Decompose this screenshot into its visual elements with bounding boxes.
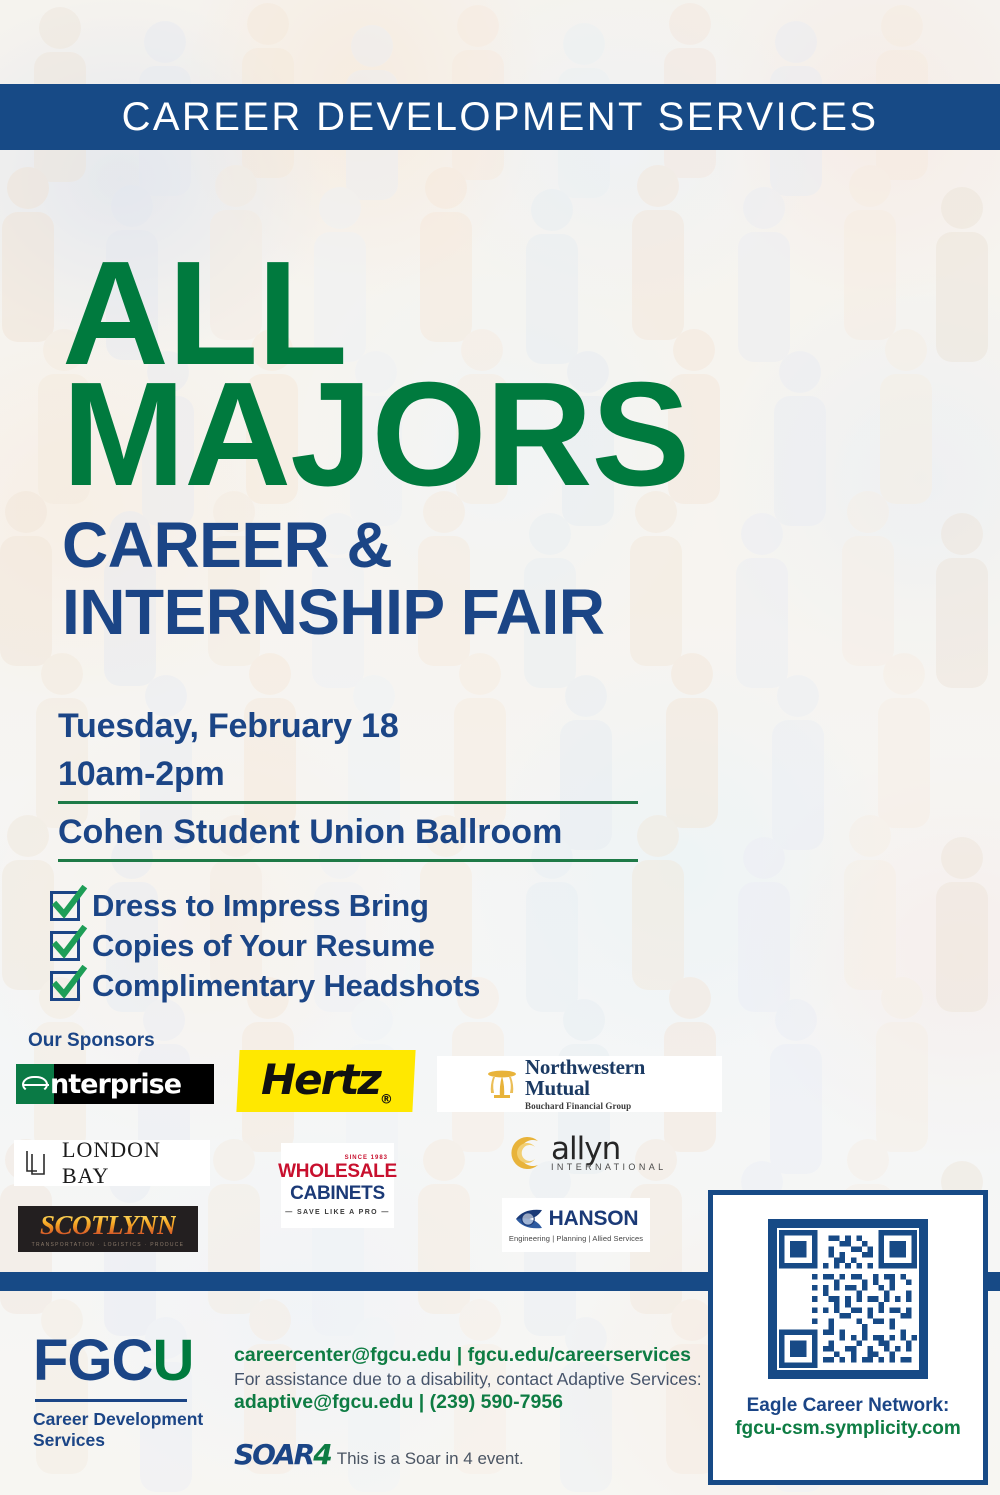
sponsor-logo-hertz: Hertz® xyxy=(236,1050,415,1112)
fgcu-subtitle-line-2: Services xyxy=(33,1430,203,1452)
sponsor-wordmark: allyn xyxy=(551,1134,667,1165)
sponsor-wordmark-line-2: Mutual xyxy=(525,1078,645,1099)
sponsor-tagline: — SAVE LIKE A PRO — xyxy=(285,1209,390,1216)
sponsor-tagline: TRANSPORTATION · LOGISTICS · PRODUCE xyxy=(32,1242,185,1248)
qr-code-icon[interactable] xyxy=(768,1219,928,1379)
checklist-item: Dress to Impress Bring xyxy=(50,888,480,924)
fgcu-logo: FGCU Career Development Services xyxy=(33,1332,203,1452)
sponsor-logo-hanson: HANSON Engineering | Planning | Allied S… xyxy=(502,1198,650,1252)
header-banner: CAREER DEVELOPMENT SERVICES xyxy=(0,84,1000,150)
headline-line-2: MAJORS xyxy=(62,371,689,498)
soar4-logo: SOAR4 xyxy=(234,1438,331,1471)
checklist-item-label: Dress to Impress Bring xyxy=(92,888,429,924)
checkbox-checked-icon xyxy=(50,931,80,961)
page-title: CAREER DEVELOPMENT SERVICES xyxy=(122,95,879,140)
allyn-swirl-icon xyxy=(505,1133,545,1173)
fgcu-wordmark-blue: FGC xyxy=(33,1328,152,1393)
headline-block: ALL MAJORS xyxy=(62,250,689,499)
checklist: Dress to Impress Bring Copies of Your Re… xyxy=(50,888,480,1008)
london-bay-mark-icon xyxy=(24,1149,52,1177)
checklist-item-label: Complimentary Headshots xyxy=(92,968,480,1004)
sponsor-logo-wholesale-cabinets: SINCE 1983 WHOLESALE CABINETS — SAVE LIK… xyxy=(281,1143,394,1228)
sponsor-wordmark: SCOTLYNN xyxy=(40,1210,176,1241)
soar-wordmark: SOAR xyxy=(234,1438,313,1471)
soar-in-4-block: SOAR4 This is a Soar in 4 event. xyxy=(234,1438,524,1471)
event-time: 10am-2pm xyxy=(58,750,658,798)
sponsor-wordmark: Hertz xyxy=(261,1055,380,1104)
soar-accent: 4 xyxy=(313,1438,330,1471)
qr-panel[interactable]: Eagle Career Network: fgcu-csm.symplicit… xyxy=(708,1190,988,1485)
soar-note: This is a Soar in 4 event. xyxy=(337,1449,524,1469)
event-venue: Cohen Student Union Ballroom xyxy=(58,808,658,856)
sponsor-tagline: INTERNATIONAL xyxy=(551,1163,667,1172)
sponsor-logo-scotlynn: SCOTLYNN TRANSPORTATION · LOGISTICS · PR… xyxy=(18,1206,198,1252)
subheadline-line-1: CAREER & xyxy=(62,512,605,579)
fgcu-logo-rule xyxy=(35,1399,187,1402)
sponsor-wordmark: LONDON BAY xyxy=(62,1137,210,1189)
divider-green-bottom xyxy=(58,859,638,862)
sponsor-logo-allyn-international: allyn INTERNATIONAL xyxy=(505,1124,653,1182)
sponsors-heading: Our Sponsors xyxy=(28,1030,155,1052)
qr-caption: Eagle Career Network: fgcu-csm.symplicit… xyxy=(735,1395,961,1441)
checklist-item: Copies of Your Resume xyxy=(50,928,480,964)
sponsor-wordmark-line-2: CABINETS xyxy=(290,1183,385,1205)
sponsor-wordmark-line-1: Northwestern xyxy=(525,1057,645,1078)
checkbox-checked-icon xyxy=(50,971,80,1001)
fgcu-wordmark-green: U xyxy=(152,1328,193,1393)
trademark-symbol: ® xyxy=(380,1092,391,1107)
sponsor-logo-london-bay: LONDON BAY xyxy=(14,1140,210,1186)
subheadline-block: CAREER & INTERNSHIP FAIR xyxy=(62,512,605,645)
divider-green-top xyxy=(58,801,638,804)
subheadline-line-2: INTERNSHIP FAIR xyxy=(62,579,605,646)
sponsor-logo-northwestern-mutual: Northwestern Mutual Bouchard Financial G… xyxy=(437,1056,722,1112)
qr-caption-line-1: Eagle Career Network: xyxy=(735,1395,961,1418)
sponsor-wordmark-line-1: WHOLESALE xyxy=(278,1161,397,1183)
checklist-item: Complimentary Headshots xyxy=(50,968,480,1004)
qr-caption-line-2[interactable]: fgcu-csm.symplicity.com xyxy=(735,1418,961,1441)
globe-icon xyxy=(514,1207,544,1231)
enterprise-e-icon xyxy=(16,1064,54,1104)
fgcu-subtitle-line-1: Career Development xyxy=(33,1409,203,1431)
poster: CAREER DEVELOPMENT SERVICES ALL MAJORS C… xyxy=(0,0,1000,1495)
sponsor-logo-enterprise: nterprise xyxy=(16,1064,214,1104)
checkbox-checked-icon xyxy=(50,891,80,921)
sponsor-wordmark: nterprise xyxy=(50,1069,181,1100)
sponsor-tagline: Bouchard Financial Group xyxy=(525,1102,645,1111)
sponsor-tagline: Engineering | Planning | Allied Services xyxy=(509,1234,643,1243)
event-date: Tuesday, February 18 xyxy=(58,702,658,750)
fountain-icon xyxy=(485,1067,519,1101)
event-details: Tuesday, February 18 10am-2pm Cohen Stud… xyxy=(58,702,658,862)
sponsor-wordmark: HANSON xyxy=(549,1207,639,1231)
checklist-item-label: Copies of Your Resume xyxy=(92,928,435,964)
